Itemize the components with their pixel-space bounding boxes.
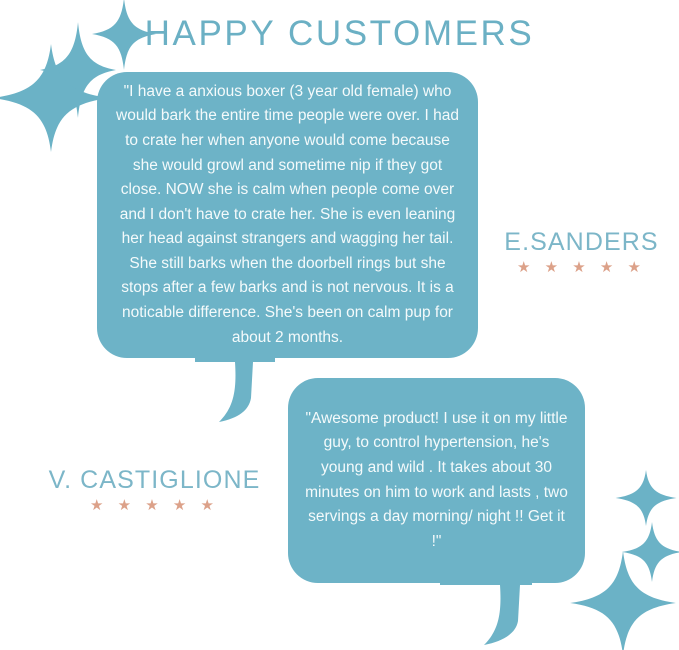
attribution-castiglione: V. CASTIGLIONE ★ ★ ★ ★ ★ — [22, 466, 287, 513]
speech-bubble-tail-icon — [195, 352, 275, 424]
page-title: HAPPY CUSTOMERS — [0, 14, 679, 54]
sparkle-icon — [622, 522, 679, 582]
speech-bubble-tail-icon — [440, 577, 532, 647]
sparkle-icon — [0, 44, 110, 152]
attribution-sanders: E.SANDERS ★ ★ ★ ★ ★ — [489, 228, 674, 275]
star-rating: ★ ★ ★ ★ ★ — [22, 498, 287, 513]
testimonial-bubble-two: "Awesome product! I use it on my little … — [288, 378, 585, 583]
sparkle-icon — [615, 470, 677, 526]
author-name: V. CASTIGLIONE — [22, 466, 287, 495]
testimonial-graphic: HAPPY CUSTOMERS "I have a anxious boxer … — [0, 0, 679, 650]
testimonial-quote-two: "Awesome product! I use it on my little … — [288, 407, 585, 555]
author-name: E.SANDERS — [489, 228, 674, 257]
testimonial-bubble-one: "I have a anxious boxer (3 year old fema… — [97, 72, 478, 358]
testimonial-quote-one: "I have a anxious boxer (3 year old fema… — [97, 80, 478, 351]
sparkle-icon — [570, 551, 676, 650]
star-rating: ★ ★ ★ ★ ★ — [489, 260, 674, 275]
